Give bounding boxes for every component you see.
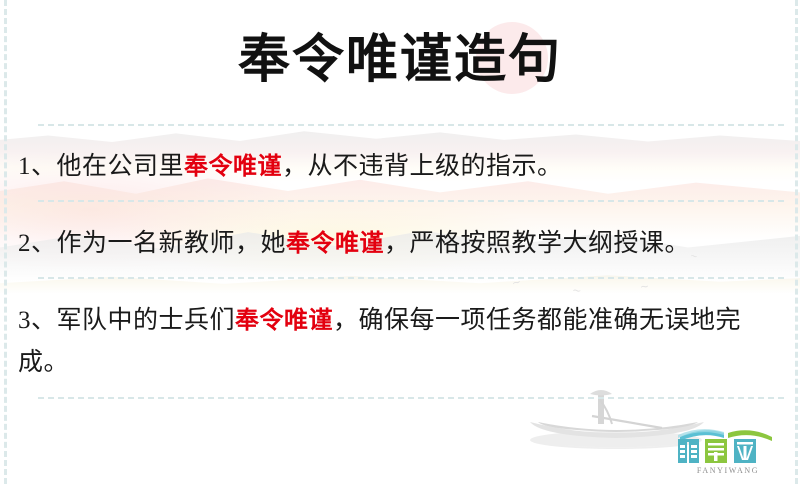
separator-rule-1 bbox=[38, 124, 784, 126]
sentence-text-before: 他在公司里 bbox=[57, 153, 185, 180]
keyword-highlight: 奉令唯谨 bbox=[235, 306, 333, 334]
fanyiwang-logo-icon bbox=[672, 424, 784, 468]
sentence-text-after: ，从不违背上级的指示。 bbox=[282, 153, 563, 180]
site-logo[interactable]: FANYIWANG bbox=[672, 424, 784, 476]
sentence-text-after: ，严格按照教学大纲授课。 bbox=[384, 230, 690, 257]
logo-wordmark: FANYIWANG bbox=[672, 466, 784, 475]
example-sentence-1: 1、他在公司里奉令唯谨，从不违背上级的指示。 bbox=[18, 145, 784, 188]
sentence-index: 3、 bbox=[18, 307, 57, 334]
separator-rule-2 bbox=[38, 200, 784, 202]
page-title: 奉令唯谨造句 bbox=[0, 28, 800, 91]
sentence-index: 2、 bbox=[18, 230, 57, 257]
sentence-text-before: 作为一名新教师，她 bbox=[57, 230, 287, 257]
bird-icon: ∼ bbox=[571, 285, 582, 297]
keyword-highlight: 奉令唯谨 bbox=[184, 152, 282, 180]
separator-rule-4 bbox=[38, 397, 784, 399]
sentence-index: 1、 bbox=[18, 153, 57, 180]
example-sentence-3: 3、军队中的士兵们奉令唯谨，确保每一项任务都能准确无误地完成。 bbox=[18, 299, 784, 384]
sentence-text-before: 军队中的士兵们 bbox=[57, 307, 236, 334]
keyword-highlight: 奉令唯谨 bbox=[286, 229, 384, 257]
bird-icon: ∼ bbox=[640, 282, 650, 294]
separator-rule-3 bbox=[38, 277, 784, 279]
example-sentence-2: 2、作为一名新教师，她奉令唯谨，严格按照教学大纲授课。 bbox=[18, 222, 784, 265]
